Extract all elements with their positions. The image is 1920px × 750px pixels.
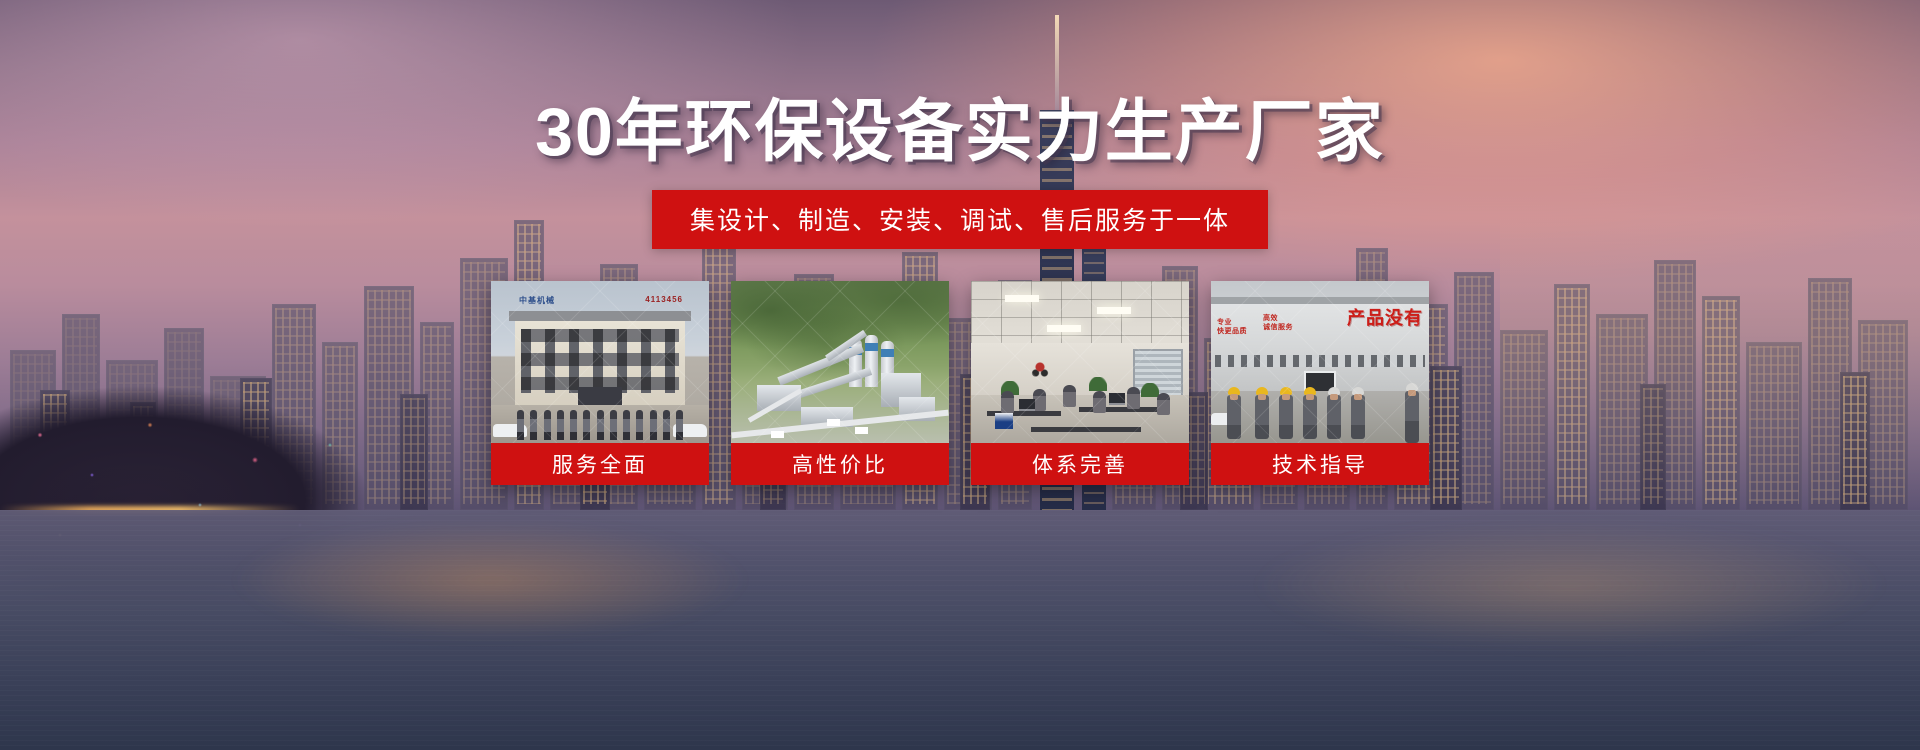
factory-banner-text: 产品没有 xyxy=(1347,304,1423,330)
card-label-guidance: 技术指导 xyxy=(1211,443,1429,485)
subtitle-container: 集设计、制造、安装、调试、售后服务于一体 xyxy=(0,190,1920,249)
building-sign-label: 中基机械 xyxy=(519,295,555,306)
feature-card-guidance[interactable]: 专业快更品质 高效诚信服务 产品没有 xyxy=(1211,281,1429,485)
factory-slogan-right: 高效诚信服务 xyxy=(1263,315,1293,333)
hero-banner: 30年环保设备实力生产厂家 集设计、制造、安装、调试、售后服务于一体 中基机械 … xyxy=(0,0,1920,750)
page-title: 30年环保设备实力生产厂家 xyxy=(0,98,1920,166)
water-reflection-right xyxy=(1250,520,1890,650)
factory-slogan-left: 专业快更品质 xyxy=(1217,319,1247,337)
card-image-factory-exterior: 专业快更品质 高效诚信服务 产品没有 xyxy=(1211,281,1429,443)
feature-card-service[interactable]: 中基机械 4113456 服务全面 xyxy=(491,281,709,485)
feature-card-system[interactable]: 体系完善 xyxy=(971,281,1189,485)
feature-card-value[interactable]: 高性价比 xyxy=(731,281,949,485)
subtitle-badge: 集设计、制造、安装、调试、售后服务于一体 xyxy=(652,190,1268,249)
card-image-headquarters: 中基机械 4113456 xyxy=(491,281,709,443)
card-label-system: 体系完善 xyxy=(971,443,1189,485)
water-reflection-left xyxy=(230,520,750,640)
card-image-office-interior xyxy=(971,281,1189,443)
card-image-plant-aerial xyxy=(731,281,949,443)
feature-card-row: 中基机械 4113456 服务全面 xyxy=(0,281,1920,485)
card-label-service: 服务全面 xyxy=(491,443,709,485)
card-label-value: 高性价比 xyxy=(731,443,949,485)
building-phone-label: 4113456 xyxy=(645,295,683,304)
wall-logo-icon xyxy=(1029,359,1051,379)
